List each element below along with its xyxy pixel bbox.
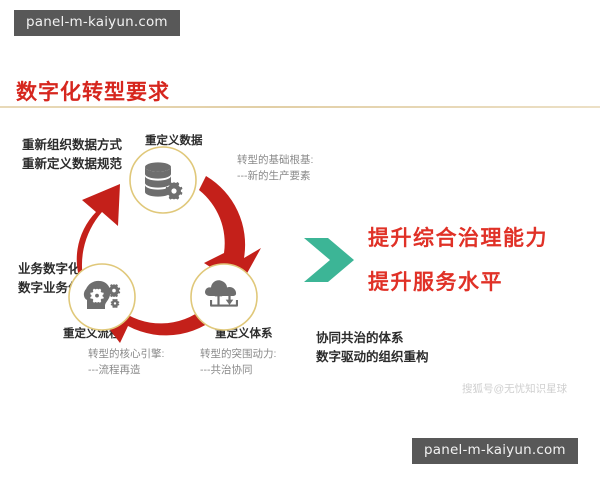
- transformation-cycle-diagram: [58, 140, 268, 350]
- cycle-node-process: [69, 264, 135, 330]
- outcome-line-2: 提升服务水平: [368, 266, 593, 296]
- note-governance-line1: 协同共治的体系: [316, 329, 429, 348]
- brain-gears-icon: [84, 281, 120, 309]
- cycle-node-data: [130, 147, 196, 213]
- note-process-detail-line2: ---流程再造: [88, 362, 164, 378]
- page-title: 数字化转型要求: [16, 76, 170, 106]
- note-system-detail: 转型的突围动力: ---共治协同: [200, 346, 276, 379]
- watermark-badge-top: panel-m-kaiyun.com: [14, 10, 180, 36]
- sohu-watermark: 搜狐号@无忧知识星球: [462, 381, 567, 396]
- outcome-statement: 提升综合治理能力 提升服务水平: [368, 222, 593, 296]
- note-governance-line2: 数字驱动的组织重构: [316, 348, 429, 367]
- note-system-detail-line2: ---共治协同: [200, 362, 276, 378]
- cycle-node-system: [191, 264, 257, 330]
- outcome-line-1: 提升综合治理能力: [368, 222, 593, 252]
- note-governance: 协同共治的体系 数字驱动的组织重构: [316, 329, 429, 368]
- watermark-badge-bottom: panel-m-kaiyun.com: [412, 438, 578, 464]
- note-process-detail: 转型的核心引擎: ---流程再造: [88, 346, 164, 379]
- right-chevron-arrow: [300, 232, 358, 288]
- title-divider: [0, 106, 600, 108]
- slide-canvas: panel-m-kaiyun.com 数字化转型要求 重新组织数据方式 重新定义…: [0, 0, 600, 480]
